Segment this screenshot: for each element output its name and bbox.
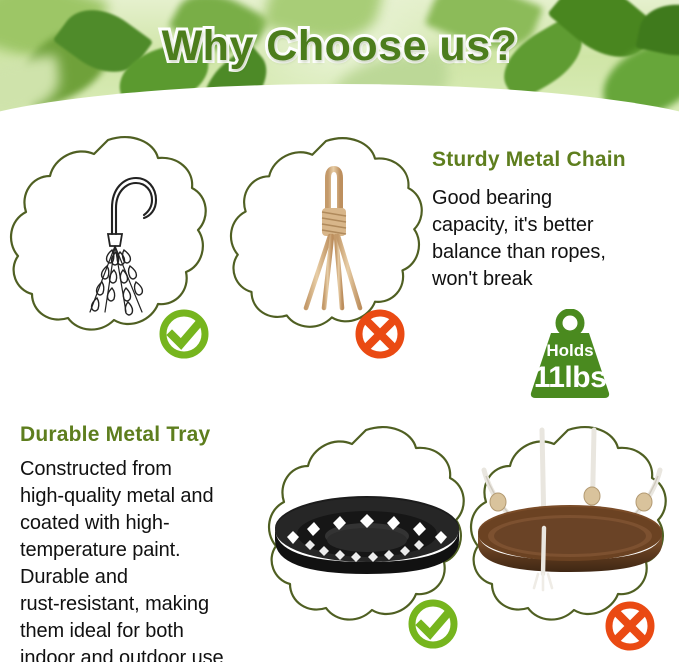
header-banner: Why Choose us? — [0, 0, 679, 125]
weight-badge-value: 11lbs — [515, 361, 625, 395]
body-line: temperature paint. — [20, 537, 272, 564]
body-line: them ideal for both — [20, 618, 272, 645]
infographic-page: Why Choose us? — [0, 0, 679, 662]
body-line: won't break — [432, 266, 662, 293]
black-metal-tray-illustration — [272, 484, 462, 594]
rope-hanger-illustration — [280, 158, 388, 318]
body-line: high-quality metal and — [20, 483, 272, 510]
page-title: Why Choose us? — [0, 22, 679, 71]
body-line: Constructed from — [20, 456, 272, 483]
section-heading-sturdy-metal-chain: Sturdy Metal Chain — [432, 148, 626, 172]
body-line: coated with high- — [20, 510, 272, 537]
check-badge-metal-chain — [156, 306, 212, 362]
body-line: Good bearing — [432, 185, 662, 212]
body-line: capacity, it's better — [432, 212, 662, 239]
weight-badge-label: Holds — [515, 341, 625, 361]
section-body-sturdy-metal-chain: Good bearing capacity, it's better balan… — [432, 185, 662, 293]
section-heading-durable-metal-tray: Durable Metal Tray — [20, 423, 210, 447]
section-body-durable-metal-tray: Constructed from high-quality metal and … — [20, 456, 272, 662]
body-line: balance than ropes, — [432, 239, 662, 266]
body-line: Durable and — [20, 564, 272, 591]
cross-badge-rope-hanger — [352, 306, 408, 362]
body-line: rust-resistant, making — [20, 591, 272, 618]
check-badge-metal-tray — [405, 596, 461, 652]
body-line: indoor and outdoor use — [20, 645, 272, 662]
wooden-macrame-tray-illustration — [464, 424, 676, 614]
weight-capacity-badge: Holds 11lbs — [515, 309, 625, 401]
metal-chain-hook-illustration — [60, 160, 170, 320]
cross-badge-wooden-tray — [602, 598, 658, 654]
